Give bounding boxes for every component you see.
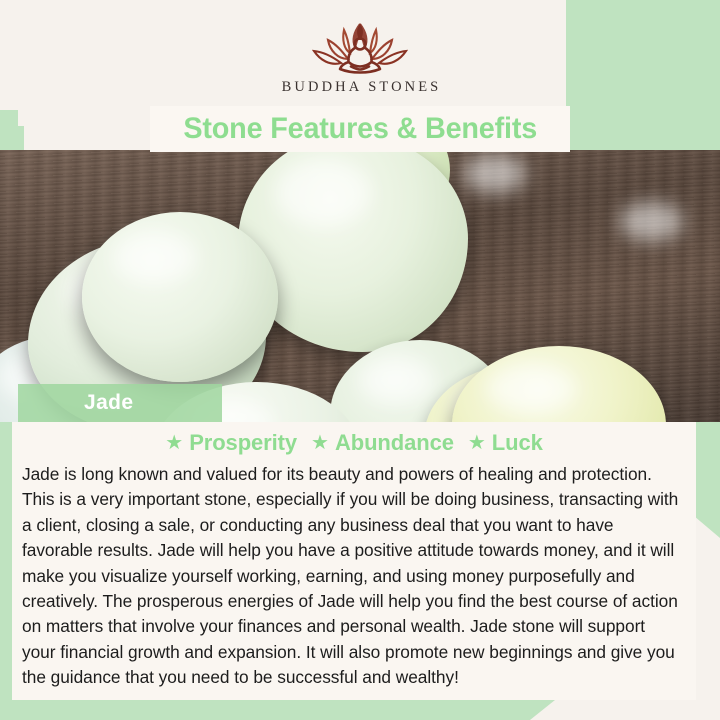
star-icon: ★ [468, 433, 486, 453]
brand-logo: BUDDHA STONES [0, 18, 720, 95]
star-icon: ★ [311, 433, 329, 453]
keyword-label: Abundance [335, 430, 454, 456]
infographic-page: BUDDHA STONES Stone Features & Benefits … [0, 0, 720, 720]
keyword-label: Prosperity [189, 430, 297, 456]
stone-name-text: Jade [18, 391, 133, 415]
decorative-band-right-body [694, 420, 720, 538]
jade-stone [82, 212, 278, 382]
decorative-band-left-body [0, 420, 12, 720]
keyword-item: ★ Abundance [311, 430, 454, 456]
content-panel: ★ Prosperity ★ Abundance ★ Luck Jade is … [12, 422, 696, 700]
stone-name-label: Jade [18, 384, 222, 422]
page-title: Stone Features & Benefits [183, 112, 537, 146]
title-strip: Stone Features & Benefits [150, 106, 570, 152]
keyword-item: ★ Prosperity [165, 430, 297, 456]
description-text: Jade is long known and valued for its be… [22, 462, 683, 691]
header: BUDDHA STONES [0, 0, 720, 112]
lotus-meditation-icon [306, 18, 414, 76]
star-icon: ★ [165, 433, 183, 453]
keyword-label: Luck [492, 430, 543, 456]
keyword-item: ★ Luck [468, 430, 543, 456]
keyword-row: ★ Prosperity ★ Abundance ★ Luck [12, 426, 696, 460]
stone-photo [0, 150, 720, 422]
brand-wordmark: BUDDHA STONES [0, 80, 720, 95]
